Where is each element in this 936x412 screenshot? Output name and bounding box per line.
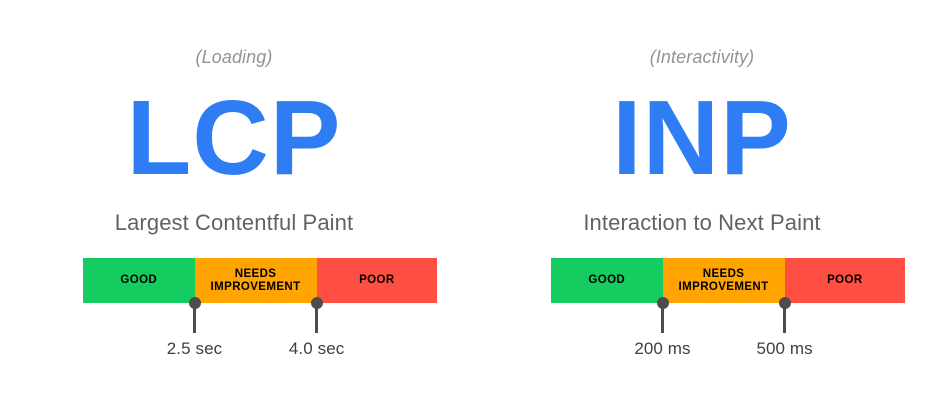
threshold-stem bbox=[783, 303, 786, 333]
rating-bar-track: GOOD NEEDS IMPROVEMENT POOR bbox=[83, 258, 437, 303]
threshold-value: 4.0 sec bbox=[247, 339, 387, 359]
rating-segment-poor-label: POOR bbox=[359, 274, 394, 287]
threshold-stem bbox=[315, 303, 318, 333]
metric-category-label: (Loading) bbox=[0, 46, 468, 68]
metric-acronym: INP bbox=[468, 85, 936, 191]
rating-segment-poor: POOR bbox=[317, 258, 437, 303]
rating-segment-needs-improvement-label: NEEDS IMPROVEMENT bbox=[679, 268, 769, 294]
metric-header-lcp: (Loading) LCP Largest Contentful Paint bbox=[0, 0, 468, 236]
rating-bar-track: GOOD NEEDS IMPROVEMENT POOR bbox=[551, 258, 905, 303]
core-web-vitals-diagram: (Loading) LCP Largest Contentful Paint G… bbox=[0, 0, 936, 412]
threshold-stem bbox=[193, 303, 196, 333]
needs-improvement-line-2: IMPROVEMENT bbox=[211, 281, 301, 293]
rating-segment-good: GOOD bbox=[83, 258, 195, 303]
rating-segment-good-label: GOOD bbox=[588, 274, 625, 287]
rating-segment-needs-improvement: NEEDS IMPROVEMENT bbox=[663, 258, 785, 303]
rating-bar-lcp: GOOD NEEDS IMPROVEMENT POOR 2.5 sec bbox=[83, 258, 437, 303]
metric-panel-inp: (Interactivity) INP Interaction to Next … bbox=[468, 0, 936, 412]
threshold-stem bbox=[661, 303, 664, 333]
metric-full-name: Largest Contentful Paint bbox=[0, 210, 468, 236]
rating-segment-good: GOOD bbox=[551, 258, 663, 303]
metric-header-inp: (Interactivity) INP Interaction to Next … bbox=[468, 0, 936, 236]
rating-segment-poor: POOR bbox=[785, 258, 905, 303]
rating-segment-needs-improvement-label: NEEDS IMPROVEMENT bbox=[211, 268, 301, 294]
rating-segment-good-label: GOOD bbox=[120, 274, 157, 287]
rating-bar-inp: GOOD NEEDS IMPROVEMENT POOR 200 ms bbox=[551, 258, 905, 303]
rating-segment-poor-label: POOR bbox=[827, 274, 862, 287]
needs-improvement-line-2: IMPROVEMENT bbox=[679, 281, 769, 293]
needs-improvement-line-1: NEEDS bbox=[703, 268, 745, 280]
threshold-value: 2.5 sec bbox=[125, 339, 265, 359]
threshold-value: 200 ms bbox=[593, 339, 733, 359]
needs-improvement-line-1: NEEDS bbox=[235, 268, 277, 280]
rating-segment-needs-improvement: NEEDS IMPROVEMENT bbox=[195, 258, 317, 303]
metric-acronym: LCP bbox=[0, 85, 468, 191]
metric-category-label: (Interactivity) bbox=[468, 46, 936, 68]
threshold-value: 500 ms bbox=[715, 339, 855, 359]
metric-full-name: Interaction to Next Paint bbox=[468, 210, 936, 236]
metric-panel-lcp: (Loading) LCP Largest Contentful Paint G… bbox=[0, 0, 468, 412]
